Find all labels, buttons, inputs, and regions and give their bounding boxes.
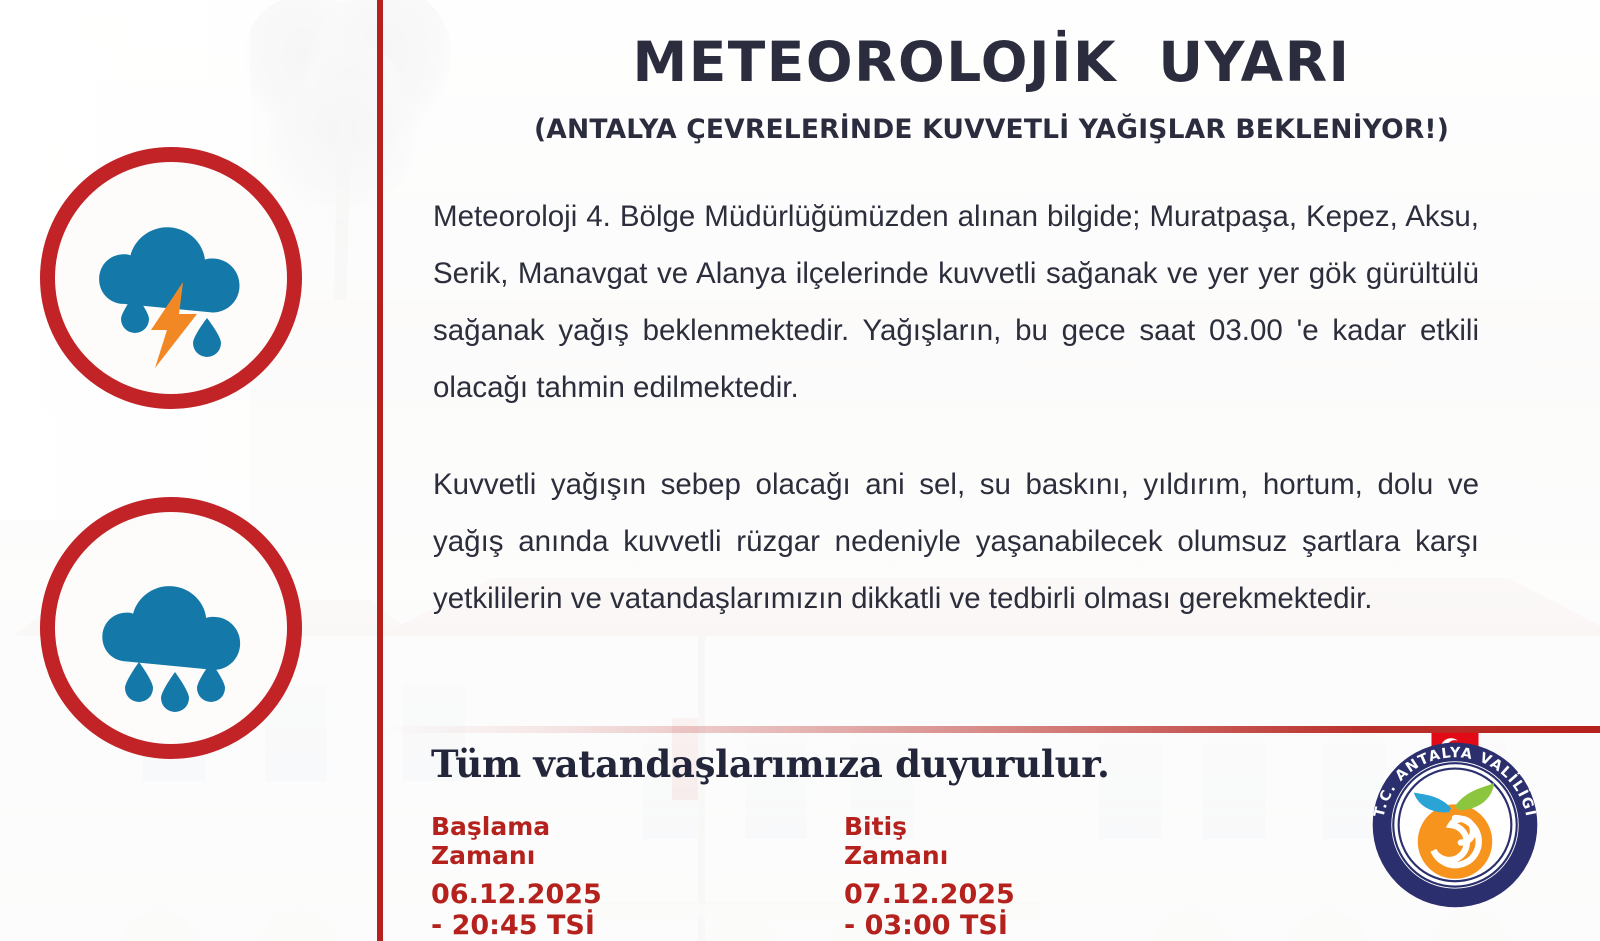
meteorological-warning-poster: METEOROLOJİK UYARI (ANTALYA ÇEVRELERİNDE… [0,0,1600,941]
weather-icon-column [0,0,377,941]
warning-paragraph-2: Kuvvetli yağışın sebep olacağı ani sel, … [433,456,1479,627]
thunderstorm-rain-icon [40,147,302,409]
warning-paragraph-1: Meteoroloji 4. Bölge Müdürlüğümüzden alı… [433,188,1479,416]
page-subtitle: (ANTALYA ÇEVRELERİNDE KUVVETLİ YAĞIŞLAR … [383,114,1600,145]
content-column: METEOROLOJİK UYARI (ANTALYA ÇEVRELERİNDE… [383,0,1600,941]
warning-body: Meteoroloji 4. Bölge Müdürlüğümüzden alı… [433,188,1479,627]
antalya-governorship-logo: T.C. ANTALYA VALİLİĞİ [1357,722,1553,918]
end-time-value: 07.12.2025 - 03:00 TSİ [844,879,1015,941]
end-time-label: Bitiş Zamanı [844,812,1015,870]
announcement-text: Tüm vatandaşlarımıza duyurulur. [431,742,1110,786]
start-time-label: Başlama Zamanı [431,812,602,870]
start-time-value: 06.12.2025 - 20:45 TSİ [431,879,602,941]
heavy-rain-icon [40,497,302,759]
end-time-block: Bitiş Zamanı 07.12.2025 - 03:00 TSİ [844,812,1015,941]
start-time-block: Başlama Zamanı 06.12.2025 - 20:45 TSİ [431,812,602,941]
page-title: METEOROLOJİK UYARI [383,30,1600,94]
